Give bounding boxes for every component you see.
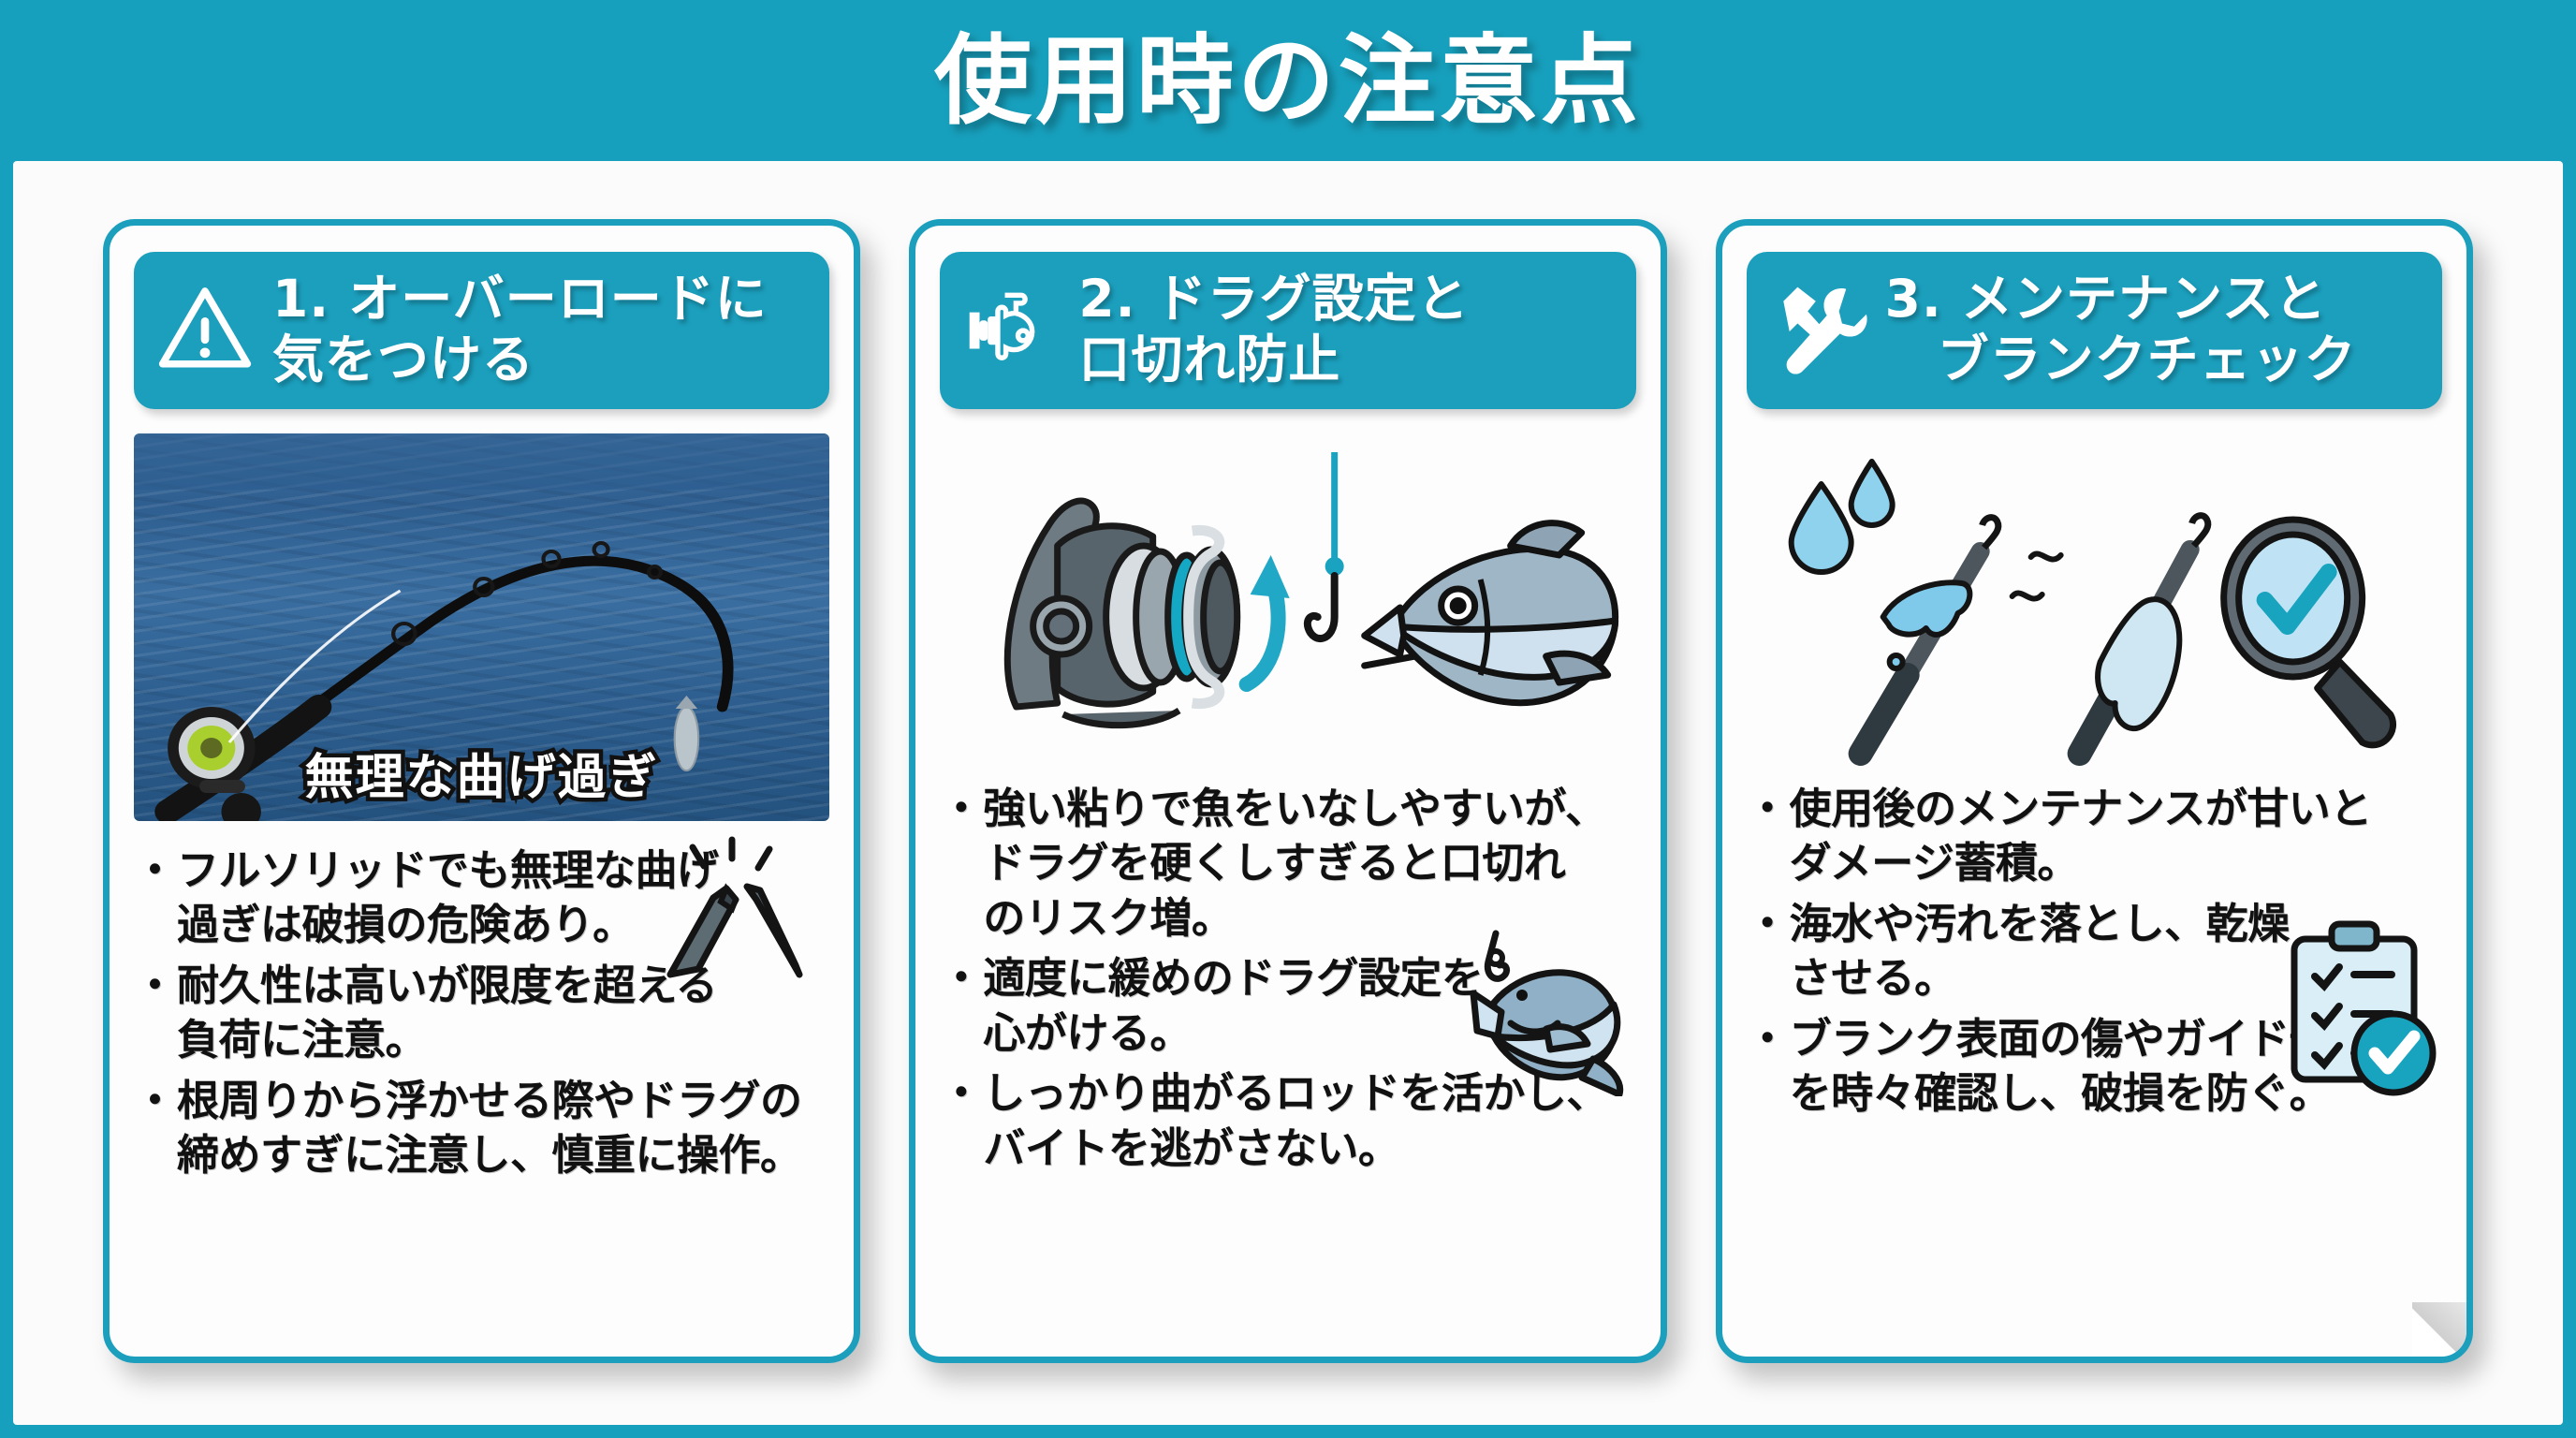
bullet-3-1-line1: 使用後のメンテナンスが甘いと — [1790, 784, 2372, 833]
bullet-2-3-line1: しっかり曲がるロッドを活かし、 — [983, 1068, 1608, 1118]
bullet-2-3: しっかり曲がるロッドを活かし、 バイトを逃がさない。 — [945, 1066, 1632, 1176]
reel-hook-fish-illustration — [940, 433, 1635, 770]
spinning-reel-icon — [960, 279, 1061, 380]
card-title-1-line1: 1. オーバーロードに — [272, 269, 768, 329]
card-header-1: 1. オーバーロードに 気をつける — [134, 252, 829, 409]
bullets-card-2: 強い粘りで魚をいなしやすいが、 ドラグを硬くしすぎると口切れ のリスク増。 適度… — [940, 778, 1635, 1332]
hammer-and-wrench-icon — [1767, 279, 1868, 380]
bullet-1-1-line2: 過ぎは破損の危険あり。 — [177, 898, 826, 953]
bullet-1-1-line1: フルソリッドでも無理な曲げ — [177, 845, 719, 895]
bullets-card-3: 使用後のメンテナンスが甘いと ダメージ蓄積。 海水や汚れを落とし、乾燥 させる。… — [1747, 778, 2442, 1332]
card-title-1-line2: 気をつける — [272, 330, 768, 390]
card-drag-setting[interactable]: 2. ドラグ設定と 口切れ防止 — [909, 219, 1666, 1363]
card-title-3-line2: ブランクチェック — [1885, 330, 2357, 390]
bullet-2-2-line2: 心がける。 — [983, 1006, 1632, 1062]
card-title-1: 1. オーバーロードに 気をつける — [272, 269, 768, 390]
bullet-3-3-line2: を時々確認し、破損を防ぐ。 — [1790, 1066, 2438, 1122]
card-overload[interactable]: 1. オーバーロードに 気をつける — [103, 219, 860, 1363]
bullet-3-2-line1: 海水や汚れを落とし、乾燥 — [1790, 899, 2290, 948]
photo-caption-1: 無理な曲げ過ぎ — [305, 738, 659, 808]
bullet-2-1-line3: のリスク増。 — [983, 891, 1632, 946]
bullet-3-3-line1: ブランク表面の傷やガイド部分 — [1790, 1014, 2373, 1064]
card-maintenance[interactable]: 3. メンテナンスと ブランクチェック — [1716, 219, 2473, 1363]
bullet-3-1: 使用後のメンテナンスが甘いと ダメージ蓄積。 — [1752, 782, 2438, 891]
bullet-2-2: 適度に緩めのドラグ設定を 心がける。 — [945, 951, 1632, 1061]
bullet-1-3-line2: 締めすぎに注意し、慎重に操作。 — [177, 1128, 826, 1183]
bullet-1-2: 耐久性は高いが限度を超える 負荷に注意。 — [139, 959, 826, 1068]
warning-triangle-icon — [154, 279, 256, 380]
bullet-1-2-line2: 負荷に注意。 — [177, 1013, 826, 1068]
card-title-2-line1: 2. ドラグ設定と — [1078, 269, 1469, 329]
bullet-3-2: 海水や汚れを落とし、乾燥 させる。 — [1752, 897, 2438, 1006]
card-header-3: 3. メンテナンスと ブランクチェック — [1747, 252, 2442, 409]
card-header-2: 2. ドラグ設定と 口切れ防止 — [940, 252, 1635, 409]
card-title-3-line1: 3. メンテナンスと — [1885, 269, 2327, 329]
card-title-3: 3. メンテナンスと ブランクチェック — [1885, 269, 2357, 390]
bullet-1-3: 根周りから浮かせる際やドラグの 締めすぎに注意し、慎重に操作。 — [139, 1074, 826, 1183]
page-title: 使用時の注意点 — [934, 32, 1642, 129]
bullet-3-2-line2: させる。 — [1790, 951, 2438, 1006]
rod-maintenance-illustration — [1747, 433, 2442, 770]
card-title-2-line2: 口切れ防止 — [1078, 330, 1469, 390]
bullet-2-1-line2: ドラグを硬くしすぎると口切れ — [983, 836, 1632, 891]
bullet-2-1: 強い粘りで魚をいなしやすいが、 ドラグを硬くしすぎると口切れ のリスク増。 — [945, 782, 1632, 946]
bullet-3-3: ブランク表面の傷やガイド部分 を時々確認し、破損を防ぐ。 — [1752, 1012, 2438, 1122]
infographic-page: 使用時の注意点 1. オーバーロードに 気をつける — [0, 0, 2576, 1438]
bullet-2-2-line1: 適度に緩めのドラグ設定を — [983, 953, 1483, 1003]
bullets-card-1: フルソリッドでも無理な曲げ 過ぎは破損の危険あり。 耐久性は高いが限度を超える … — [134, 840, 829, 1332]
bullet-3-1-line2: ダメージ蓄積。 — [1790, 836, 2438, 891]
bullet-1-2-line1: 耐久性は高いが限度を超える — [177, 961, 717, 1010]
bullet-1-1: フルソリッドでも無理な曲げ 過ぎは破損の危険あり。 — [139, 844, 826, 953]
bent-rod-photo: 無理な曲げ過ぎ — [134, 433, 829, 821]
bullet-2-1-line1: 強い粘りで魚をいなしやすいが、 — [983, 784, 1606, 833]
bullet-2-3-line2: バイトを逃がさない。 — [983, 1122, 1632, 1177]
content-board: 1. オーバーロードに 気をつける — [13, 161, 2563, 1425]
page-title-bar: 使用時の注意点 — [0, 0, 2576, 161]
bullet-1-3-line1: 根周りから浮かせる際やドラグの — [177, 1076, 802, 1125]
card-title-2: 2. ドラグ設定と 口切れ防止 — [1078, 269, 1469, 390]
cards-row: 1. オーバーロードに 気をつける — [13, 161, 2563, 1425]
page-corner-fold — [2412, 1302, 2466, 1357]
